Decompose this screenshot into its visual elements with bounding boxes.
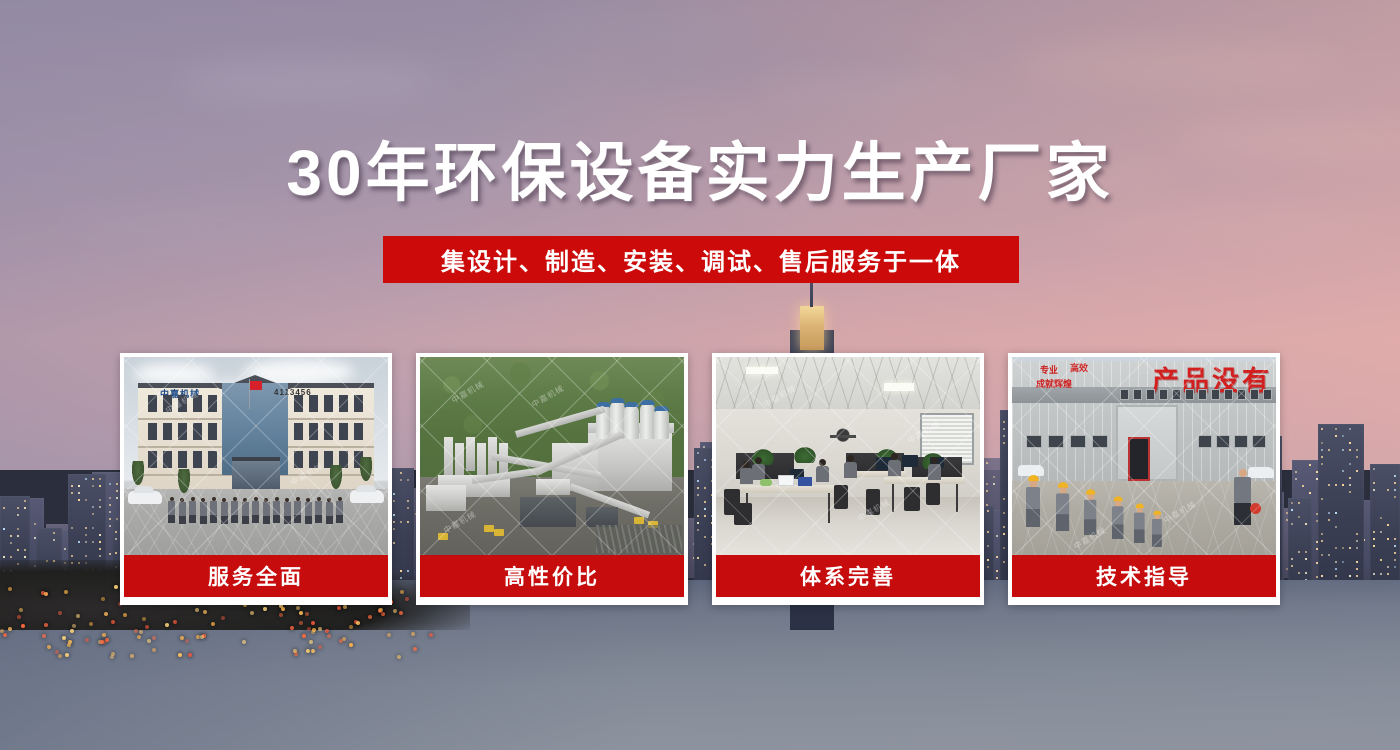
parked-car xyxy=(350,490,384,503)
staff-figure xyxy=(242,498,249,524)
card-photo-workshop: 产品没有 专业 高效 成就辉煌 中嘉机械 中嘉机械 xyxy=(1012,357,1276,555)
office-worker xyxy=(816,459,829,482)
staff-figure xyxy=(200,498,207,524)
office-chair xyxy=(734,503,752,525)
card-caption-system: 体系完善 xyxy=(716,555,980,597)
staff-figure xyxy=(189,497,196,523)
excavator xyxy=(484,525,494,532)
excavator xyxy=(494,529,504,536)
office-chair xyxy=(834,485,848,509)
card-photo-office-building: 中嘉机械 4113456 中嘉机械 中嘉机械 xyxy=(124,357,388,555)
office-chair xyxy=(926,483,940,505)
card-photo-office-interior: 中嘉机械 中嘉机械 中嘉机械 xyxy=(716,357,980,555)
desk-item xyxy=(798,477,812,486)
card-caption-service: 服务全面 xyxy=(124,555,388,597)
staff-figure xyxy=(305,498,312,524)
office-worker xyxy=(928,457,941,480)
worker-figure xyxy=(1084,489,1096,535)
office-desk xyxy=(740,485,836,493)
worker-figure xyxy=(1134,503,1145,543)
plant-silo xyxy=(624,405,639,439)
workshop-window xyxy=(1234,435,1248,448)
parked-car xyxy=(128,491,162,504)
staff-figure xyxy=(315,497,322,523)
workshop-window xyxy=(1198,435,1212,448)
red-safety-helmet xyxy=(1250,503,1261,514)
workshop-window xyxy=(1092,435,1108,448)
worker-figure xyxy=(1112,496,1123,539)
promo-banner: 30年环保设备实力生产厂家 集设计、制造、安装、调试、售后服务于一体 xyxy=(0,0,1400,750)
staff-figure xyxy=(326,498,333,524)
staff-figure xyxy=(179,498,186,524)
excavator xyxy=(438,533,448,540)
desk-item xyxy=(760,479,772,486)
worker-figure xyxy=(1056,482,1069,531)
feature-card-value[interactable]: 中嘉机械 中嘉机械 中嘉机械 高性价比 xyxy=(416,353,688,605)
subtitle-text: 集设计、制造、安装、调试、售后服务于一体 xyxy=(441,242,961,277)
supervisor-figure xyxy=(1234,469,1251,525)
card-caption-label: 高性价比 xyxy=(504,561,600,591)
desk-item xyxy=(778,475,794,486)
office-desk xyxy=(884,477,964,484)
staff-figure xyxy=(294,497,301,523)
staff-figure xyxy=(210,497,217,523)
staff-figure xyxy=(231,497,238,523)
office-plant xyxy=(794,447,816,463)
staff-figure xyxy=(221,498,228,524)
worker-figure xyxy=(1026,475,1040,527)
staff-figure xyxy=(273,497,280,523)
workshop-window xyxy=(1070,435,1086,448)
subtitle-banner: 集设计、制造、安装、调试、售后服务于一体 xyxy=(383,236,1019,283)
office-chair xyxy=(866,489,880,515)
card-caption-label: 技术指导 xyxy=(1096,561,1192,591)
office-chair xyxy=(904,487,920,511)
tower-crown-light xyxy=(800,306,824,350)
card-caption-label: 服务全面 xyxy=(208,561,304,591)
workshop-window xyxy=(1252,435,1266,448)
staff-figure xyxy=(284,498,291,524)
plant-silo xyxy=(654,409,669,439)
card-caption-label: 体系完善 xyxy=(800,561,896,591)
office-worker xyxy=(752,457,765,480)
office-worker xyxy=(888,453,901,476)
staff-figure xyxy=(336,497,343,523)
plant-silo xyxy=(640,403,655,439)
workshop-window xyxy=(1216,435,1230,448)
feature-card-service[interactable]: 中嘉机械 4113456 中嘉机械 中嘉机械 服务全面 xyxy=(120,353,392,605)
card-caption-value: 高性价比 xyxy=(420,555,684,597)
workshop-window xyxy=(1026,435,1042,448)
feature-card-system[interactable]: 中嘉机械 中嘉机械 中嘉机械 体系完善 xyxy=(712,353,984,605)
card-photo-aerial-plant: 中嘉机械 中嘉机械 中嘉机械 xyxy=(420,357,684,555)
office-worker xyxy=(844,455,857,478)
workshop-window xyxy=(1048,435,1064,448)
card-caption-guidance: 技术指导 xyxy=(1012,555,1276,597)
page-title: 30年环保设备实力生产厂家 xyxy=(0,137,1400,209)
feature-card-guidance[interactable]: 产品没有 专业 高效 成就辉煌 中嘉机械 中嘉机械 技术指导 xyxy=(1008,353,1280,605)
computer-monitor xyxy=(902,455,918,467)
excavator xyxy=(634,517,644,524)
worker-figure xyxy=(1152,511,1162,547)
staff-figure xyxy=(252,497,259,523)
staff-figure xyxy=(263,498,270,524)
staff-figure xyxy=(168,497,175,523)
parked-car xyxy=(1248,467,1274,478)
plant-shed xyxy=(520,497,576,527)
feature-card-row: 中嘉机械 4113456 中嘉机械 中嘉机械 服务全面 中嘉机械 中嘉机 xyxy=(120,353,1280,605)
